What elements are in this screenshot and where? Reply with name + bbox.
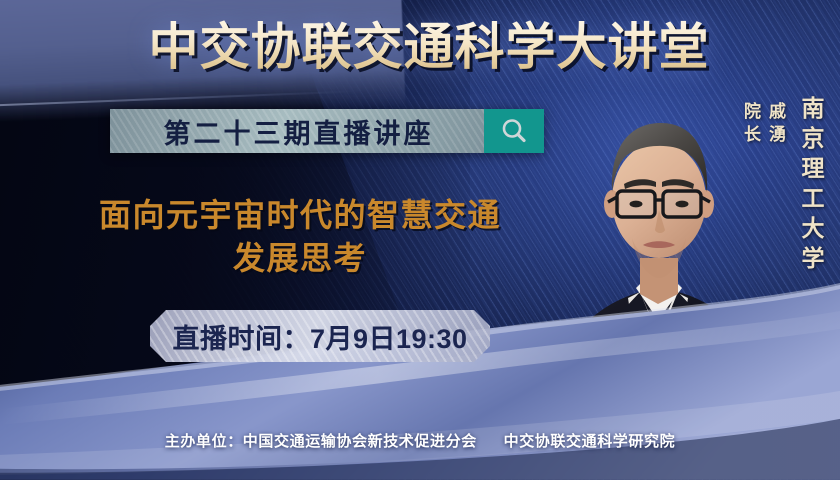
speaker-identity: 戚湧 院长 — [738, 102, 788, 228]
episode-label: 第二十三期直播讲座 — [161, 112, 434, 151]
organizer-primary: 主办单位：中国交通运输协会新技术促进分会 — [165, 433, 477, 450]
page-title: 中交协联交通科学大讲堂 — [0, 20, 840, 74]
episode-banner-body: 第二十三期直播讲座 — [110, 109, 484, 153]
search-button[interactable] — [484, 109, 544, 153]
broadcast-time-label: 直播时间：7月9日19:30 — [172, 317, 467, 356]
speaker-affiliation: 南京理工大学 — [794, 96, 828, 276]
organizer-footer: 主办单位：中国交通运输协会新技术促进分会 中交协联交通科学研究院 — [0, 430, 840, 451]
lecture-headline-line2: 发展思考 — [40, 237, 560, 280]
speaker-title: 院长 — [738, 102, 763, 228]
speaker-name: 戚湧 — [763, 102, 788, 228]
broadcast-time-badge: 直播时间：7月9日19:30 — [150, 310, 490, 362]
episode-banner: 第二十三期直播讲座 — [110, 109, 544, 153]
lecture-headline-line1: 面向元宇宙时代的智慧交通 — [40, 194, 560, 237]
live-lecture-poster: 中交协联交通科学大讲堂 第二十三期直播讲座 面向元宇宙时代的智慧交通 发展思考 … — [0, 0, 840, 480]
lecture-headline: 面向元宇宙时代的智慧交通 发展思考 — [40, 194, 560, 279]
organizer-secondary: 中交协联交通科学研究院 — [504, 433, 676, 450]
search-icon — [499, 116, 529, 146]
